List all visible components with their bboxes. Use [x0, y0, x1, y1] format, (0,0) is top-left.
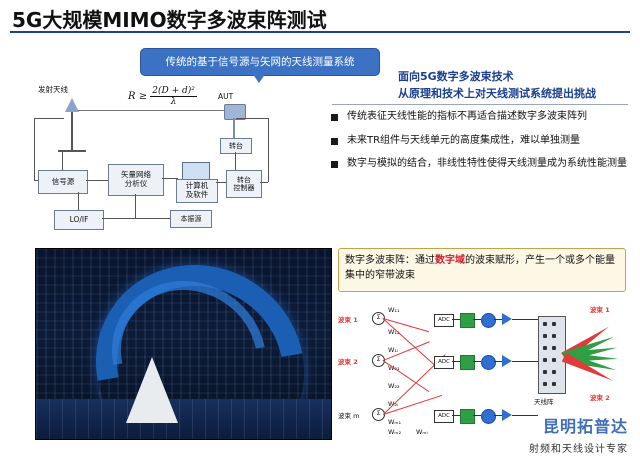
challenge-bullet-list: 传统表征天线性能的指标不再适合描述数字多波束阵列 未来TR组件与天线单元的高度集…	[330, 110, 630, 181]
slide-root: 5G大规模MIMO数字多波束阵测试 传统的基于信号源与矢网的天线测量系统 R ≥…	[0, 0, 640, 463]
local-source-box: 本振源	[170, 210, 212, 228]
formula-numerator: 2(D + d)²	[150, 86, 197, 97]
bf-wire-2a	[452, 361, 460, 362]
array-element	[543, 334, 547, 338]
bf-wire-mb	[473, 415, 481, 416]
bf-weight-wm2: Wₘ₂	[388, 428, 401, 436]
wire-tx-to-source	[62, 150, 63, 170]
formula-lhs: R ≥	[128, 91, 147, 102]
radiation-beams	[564, 318, 620, 392]
array-element	[543, 322, 547, 326]
adc-block-1: ADC	[434, 314, 454, 327]
propagation-path	[78, 110, 224, 111]
adc-block-m: ADC	[434, 410, 454, 423]
wire-vna-to-localsource	[135, 194, 136, 218]
title-divider	[10, 31, 630, 33]
array-element	[552, 382, 556, 386]
wire-left-bus-bottom	[34, 180, 38, 181]
list-item: 未来TR组件与天线单元的高度集成性，难以单独测量	[330, 134, 630, 149]
array-element	[552, 346, 556, 350]
wire-left-bus-top	[34, 118, 64, 119]
amplifier-icon-m	[502, 409, 512, 421]
tx-antenna-icon	[65, 98, 79, 112]
filter-block-m	[460, 409, 475, 424]
mixer-block-1	[481, 313, 496, 328]
beamforming-explanation: 数字多波束阵：通过数字域的波束赋形，产生一个或多个能量集中的窄带波束	[338, 248, 626, 292]
bf-input-label-2: 波束 2	[338, 356, 358, 366]
bf-output-label-2: 波束 2	[590, 392, 610, 402]
bf-weight-w1i: W₁ᵢ	[388, 346, 398, 354]
wire-right-bus-top	[236, 118, 268, 119]
mixer-block-m	[481, 409, 496, 424]
array-element	[552, 358, 556, 362]
list-item: 传统表征天线性能的指标不再适合描述数字多波束阵列	[330, 110, 630, 125]
bf-wire-1b	[473, 319, 481, 320]
bf-wire-mc	[494, 415, 502, 416]
array-element	[552, 370, 556, 374]
bf-wire-1a	[452, 319, 460, 320]
list-item: 数字与模拟的结合，非线性特性使得天线测量成为系统性能测量	[330, 157, 630, 172]
filter-block-1	[460, 313, 475, 328]
antenna-array-label: 天线阵	[534, 396, 554, 406]
bf-wire-md	[512, 415, 538, 416]
brand-watermark: 昆明拓普达	[543, 413, 628, 437]
formula-denominator: λ	[150, 97, 197, 107]
far-field-formula: R ≥ 2(D + d)² λ	[128, 86, 197, 107]
array-element	[543, 382, 547, 386]
explain-pre: 数字多波束阵：通过	[345, 255, 435, 266]
label-aut: AUT	[218, 92, 233, 101]
signal-source-box: 信号源	[38, 170, 88, 194]
wire-right-bus	[268, 118, 269, 182]
challenge-line-1: 面向5G数字多波束技术	[398, 68, 636, 85]
wire-vna-to-pc	[162, 178, 178, 179]
adc-block-2: ADC	[434, 356, 454, 369]
computer-box: 计算机 及软件	[176, 179, 218, 203]
vna-box: 矢量网络 分析仪	[108, 164, 164, 196]
bf-wire-1c	[494, 319, 502, 320]
callout-traditional-system: 传统的基于信号源与矢网的天线测量系统	[140, 48, 380, 76]
wire-pc-to-controller	[216, 182, 226, 183]
bf-weight-wmi: Wₘᵢ	[416, 428, 428, 436]
bf-wire-2c	[494, 361, 502, 362]
wire-right-bus-bottom	[260, 182, 268, 183]
bullets-divider	[332, 104, 628, 105]
wire-loif-to-localsource	[102, 218, 170, 219]
photo-center-cone	[126, 357, 178, 423]
anechoic-chamber-photo	[35, 248, 332, 440]
page-title: 5G大规模MIMO数字多波束阵测试	[12, 4, 327, 33]
wire-left-bus	[34, 118, 35, 180]
bf-input-label-m: 波束 m	[338, 410, 359, 420]
bf-wire-2d	[512, 361, 538, 362]
wire-turntable-to-controller	[235, 152, 236, 170]
bf-output-label-1: 波束 1	[590, 304, 610, 314]
challenge-heading: 面向5G数字多波束技术 从原理和技术上对天线测试系统提出挑战	[398, 68, 636, 102]
mixer-block-2	[481, 355, 496, 370]
wire-source-to-vna	[86, 180, 108, 181]
filter-block-2	[460, 355, 475, 370]
turntable-box: 转台	[220, 138, 252, 154]
bf-wire-2b	[473, 361, 481, 362]
label-tx-antenna: 发射天线	[38, 84, 68, 95]
array-element	[543, 346, 547, 350]
bf-wire-1d	[512, 319, 538, 320]
bf-weight-wm1: Wₘ₁	[388, 418, 401, 426]
challenge-line-2: 从原理和技术上对天线测试系统提出挑战	[398, 85, 636, 102]
bf-wire-ma	[452, 415, 460, 416]
photo-floor-grid	[36, 399, 331, 439]
wire-source-to-loif	[78, 192, 79, 210]
brand-tagline: 射频和天线设计专家	[529, 440, 628, 455]
bf-weight-w22: W₂₂	[388, 382, 400, 390]
title-bar: 5G大规模MIMO数字多波束阵测试	[0, 0, 640, 34]
array-element	[543, 358, 547, 362]
amplifier-icon-2	[502, 355, 512, 367]
tx-mast	[71, 112, 73, 150]
measurement-system-diagram: R ≥ 2(D + d)² λ 发射天线 AUT 转台 信号源 矢量网络 分析仪…	[30, 78, 330, 238]
array-element	[552, 322, 556, 326]
explain-highlight: 数字域	[435, 255, 465, 266]
aut-mast	[233, 118, 235, 138]
amplifier-icon-1	[502, 313, 512, 325]
array-element	[543, 370, 547, 374]
lo-if-box: LO/IF	[54, 210, 104, 230]
turntable-controller-box: 转台 控制器	[226, 170, 262, 198]
bf-weight-w11: W₁₁	[388, 306, 400, 314]
bf-input-label-1: 波束 1	[338, 314, 358, 324]
array-element	[552, 334, 556, 338]
